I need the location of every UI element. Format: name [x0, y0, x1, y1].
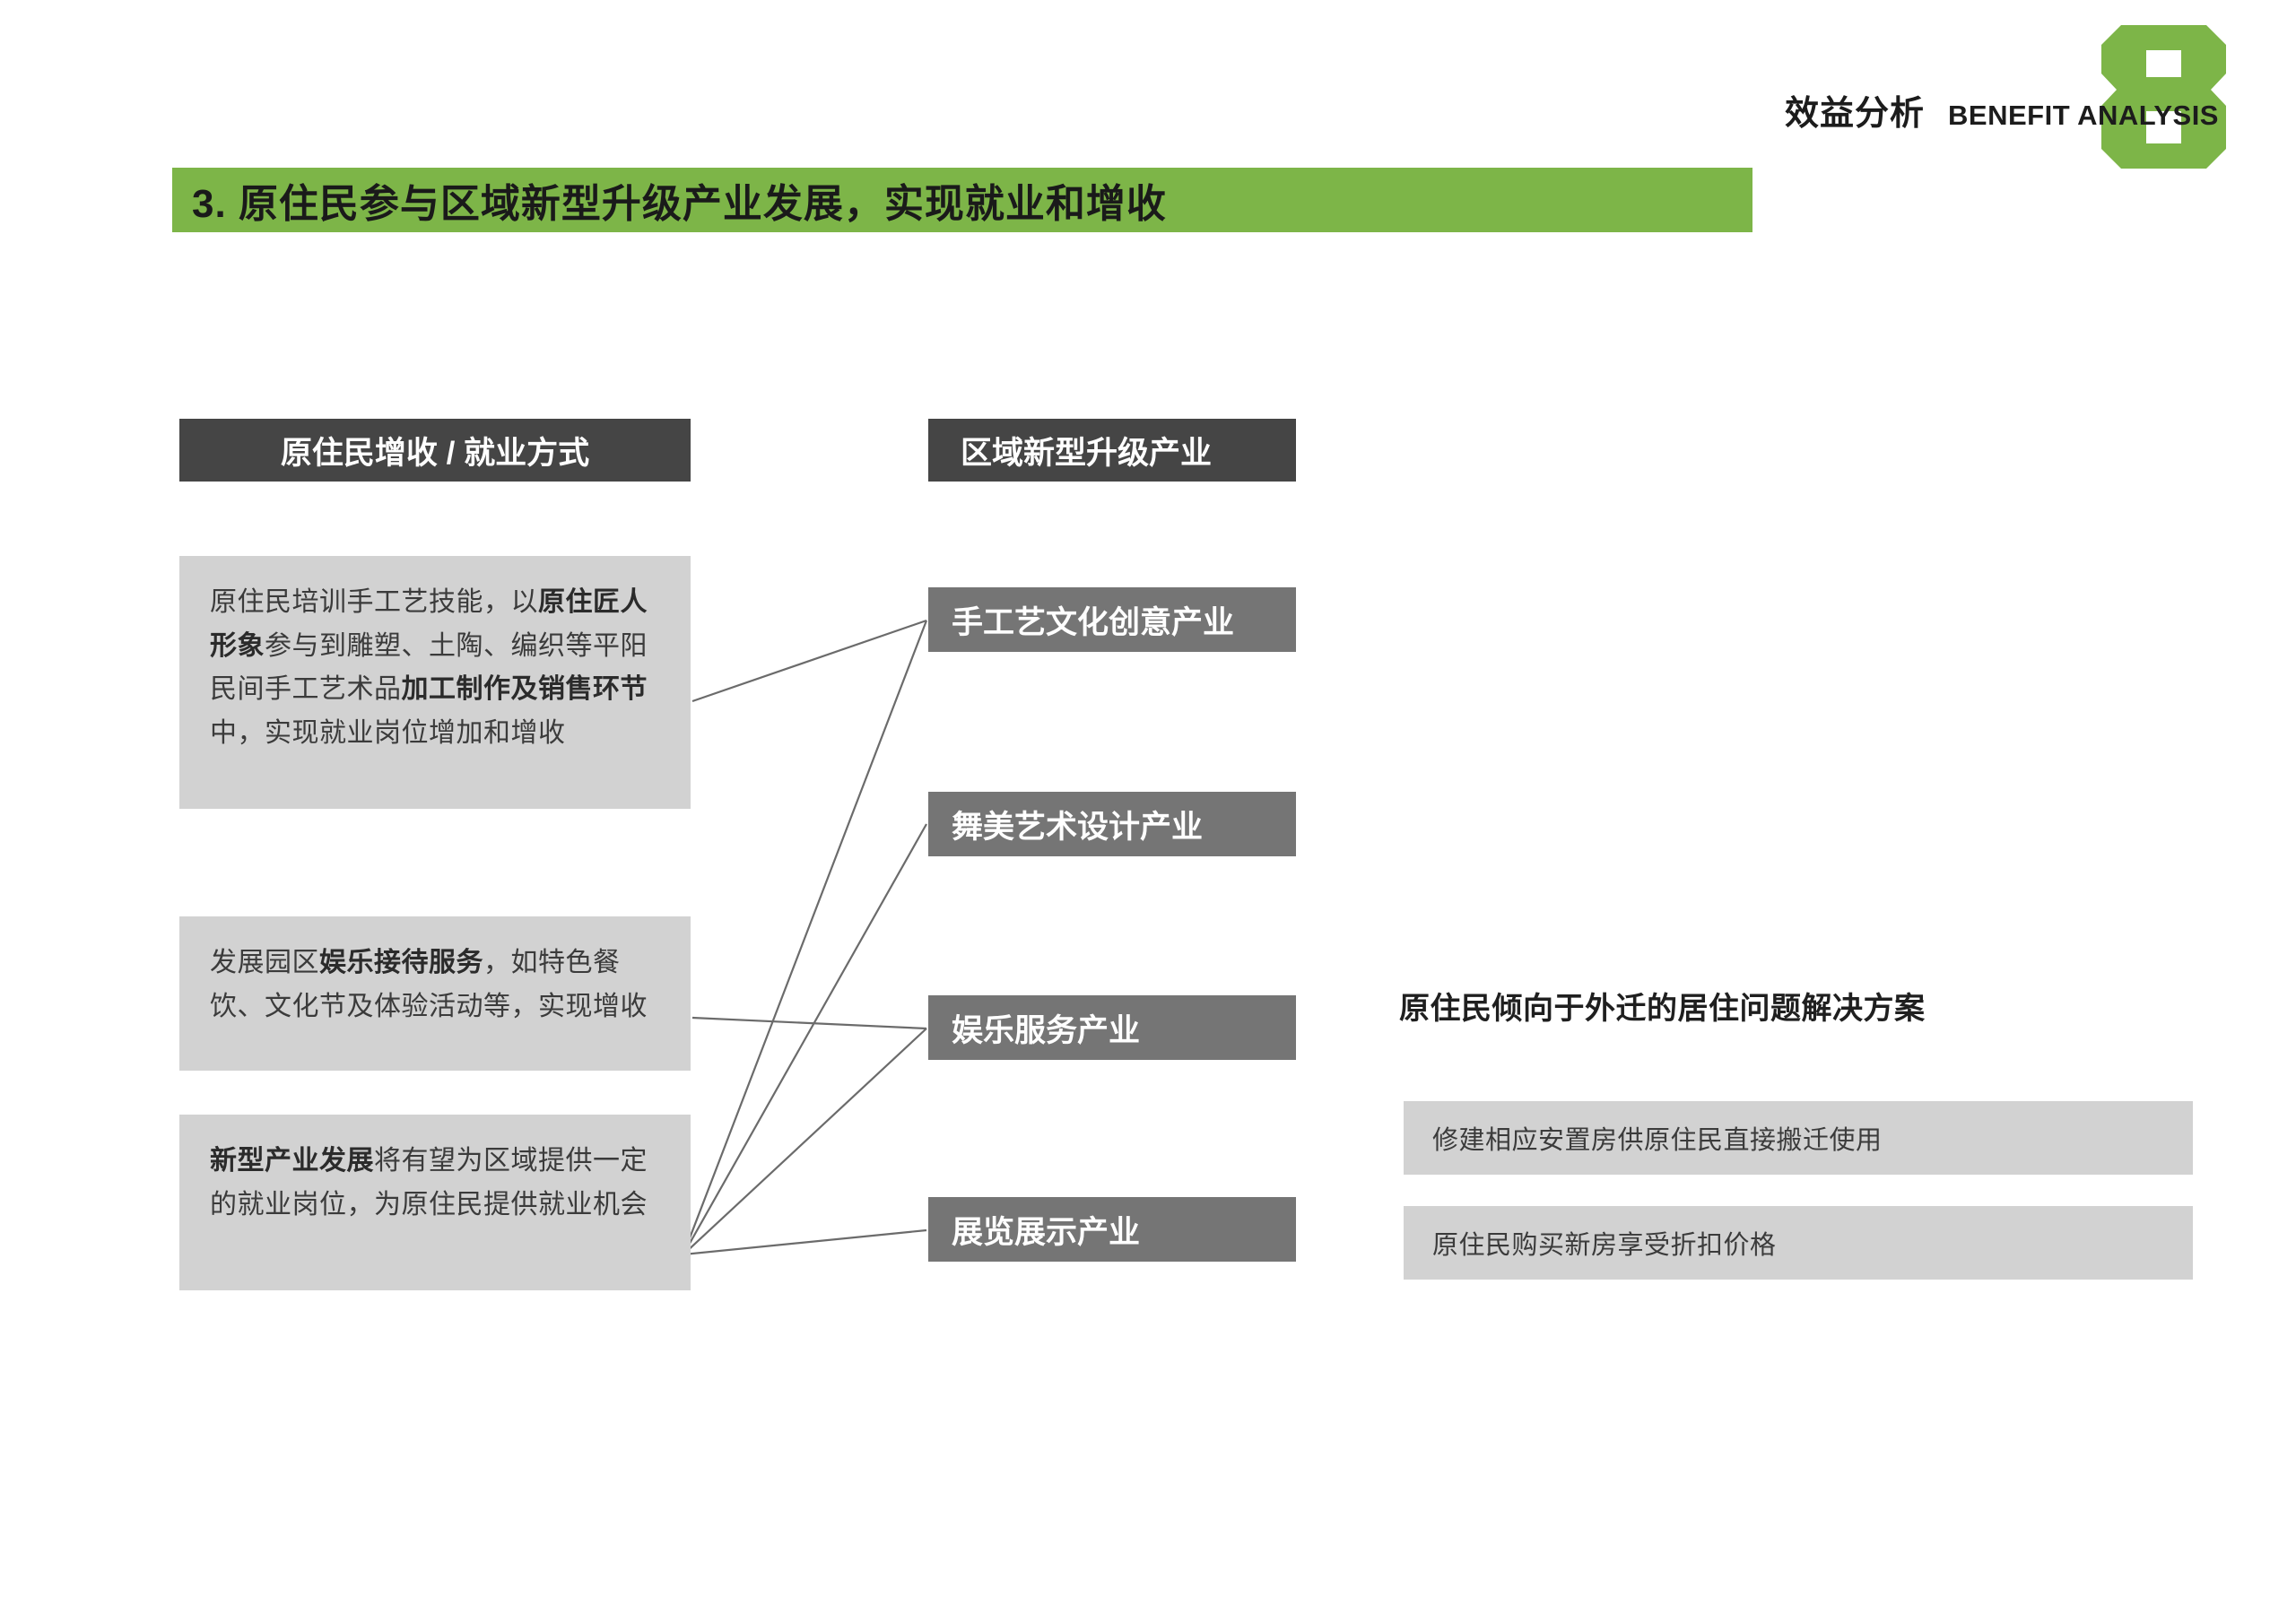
industry-label: 展览展示产业: [928, 1207, 1140, 1253]
description-text: 原住民培训手工艺技能，以原住匠人形象参与到雕塑、土陶、编织等平阳民间手工艺术品加…: [210, 581, 660, 755]
header-brand: 效益分析 BENEFIT ANALYSIS: [1785, 85, 2219, 135]
solution-item: 原住民购买新房享受折扣价格: [1404, 1206, 2193, 1280]
description-box: 新型产业发展将有望为区域提供一定的就业岗位，为原住民提供就业机会: [179, 1115, 691, 1290]
connector-desc-3-to-ind-4: [683, 1230, 926, 1254]
column-header-left: 原住民增收 / 就业方式: [179, 419, 691, 482]
solution-text: 修建相应安置房供原住民直接搬迁使用: [1404, 1119, 1883, 1157]
solution-item: 修建相应安置房供原住民直接搬迁使用: [1404, 1101, 2193, 1175]
column-header-left-label: 原住民增收 / 就业方式: [179, 428, 691, 473]
description-box: 发展园区娱乐接待服务，如特色餐饮、文化节及体验活动等，实现增收: [179, 916, 691, 1071]
industry-label: 舞美艺术设计产业: [928, 802, 1203, 847]
industry-box-stage-design[interactable]: 舞美艺术设计产业: [928, 792, 1296, 856]
industry-label: 手工艺文化创意产业: [928, 597, 1234, 643]
brand-title-cn: 效益分析: [1785, 85, 1925, 135]
solutions-panel-title: 原住民倾向于外迁的居住问题解决方案: [1399, 984, 1926, 1028]
solution-text: 原住民购买新房享受折扣价格: [1404, 1224, 1777, 1262]
page-title: 3. 原住民参与区域新型升级产业发展，实现就业和增收: [172, 171, 1167, 229]
slide-title-bar: 3. 原住民参与区域新型升级产业发展，实现就业和增收: [172, 168, 1752, 232]
column-header-right: 区域新型升级产业: [928, 419, 1296, 482]
description-text: 发展园区娱乐接待服务，如特色餐饮、文化节及体验活动等，实现增收: [210, 942, 660, 1028]
slide-root: 效益分析 BENEFIT ANALYSIS 3. 原住民参与区域新型升级产业发展…: [0, 0, 2296, 1623]
description-box: 原住民培训手工艺技能，以原住匠人形象参与到雕塑、土陶、编织等平阳民间手工艺术品加…: [179, 556, 691, 809]
connector-desc-3-to-ind-3: [683, 1028, 926, 1254]
connector-desc-2-to-ind-3: [692, 1018, 926, 1028]
brand-title-en: BENEFIT ANALYSIS: [1948, 100, 2219, 132]
connector-desc-3-to-ind-1: [683, 621, 926, 1254]
description-text: 新型产业发展将有望为区域提供一定的就业岗位，为原住民提供就业机会: [210, 1140, 660, 1227]
connector-desc-3-to-ind-2: [683, 824, 926, 1254]
industry-box-entertainment[interactable]: 娱乐服务产业: [928, 995, 1296, 1060]
industry-box-handicraft[interactable]: 手工艺文化创意产业: [928, 587, 1296, 652]
industry-label: 娱乐服务产业: [928, 1005, 1140, 1051]
connector-desc-1-to-ind-1: [692, 621, 926, 701]
column-header-right-label: 区域新型升级产业: [928, 428, 1296, 473]
industry-box-exhibition[interactable]: 展览展示产业: [928, 1197, 1296, 1262]
